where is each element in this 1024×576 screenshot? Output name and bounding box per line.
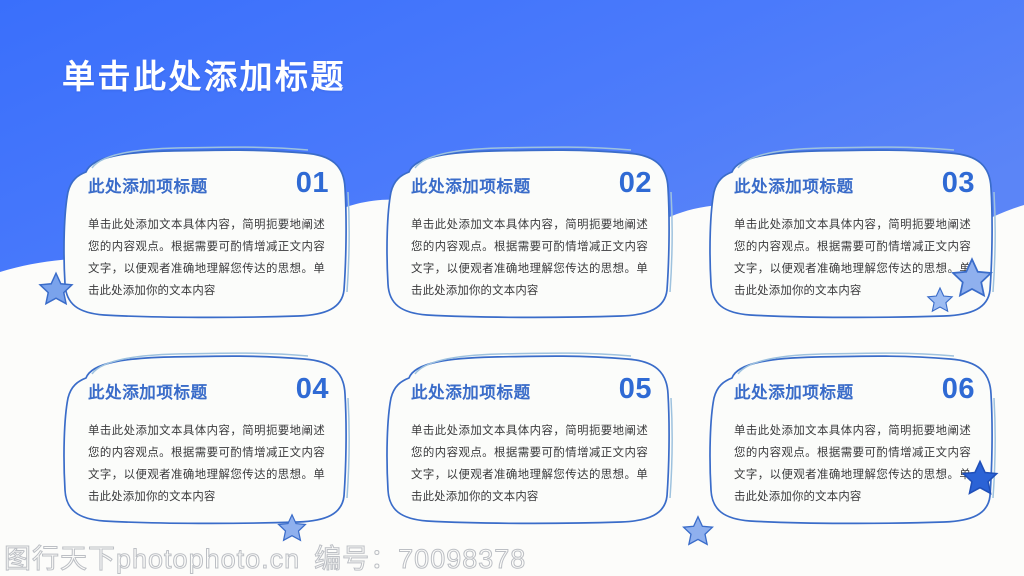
content-card-02[interactable]: 此处添加项标题 02 单击此处添加文本具体内容，简明扼要地阐述您的内容观点。根据… (381, 142, 674, 322)
card-title: 此处添加项标题 (88, 173, 208, 197)
card-body-text: 单击此处添加文本具体内容，简明扼要地阐述您的内容观点。根据需要可酌情增减正文内容… (88, 214, 325, 302)
card-header: 此处添加项标题 02 (411, 169, 652, 203)
card-header: 此处添加项标题 05 (411, 375, 652, 409)
content-card-03[interactable]: 此处添加项标题 03 单击此处添加文本具体内容，简明扼要地阐述您的内容观点。根据… (704, 142, 997, 322)
card-header: 此处添加项标题 06 (734, 375, 975, 409)
watermark-id-value: 70098378 (398, 544, 526, 574)
card-number: 02 (619, 169, 652, 198)
card-header: 此处添加项标题 04 (88, 375, 329, 409)
content-card-04[interactable]: 此处添加项标题 04 单击此处添加文本具体内容，简明扼要地阐述您的内容观点。根据… (58, 348, 351, 528)
card-header: 此处添加项标题 01 (88, 169, 329, 203)
card-body-text: 单击此处添加文本具体内容，简明扼要地阐述您的内容观点。根据需要可酌情增减正文内容… (411, 420, 648, 508)
card-title: 此处添加项标题 (734, 173, 854, 197)
page-title: 单击此处添加标题 (62, 57, 346, 97)
card-title: 此处添加项标题 (411, 173, 531, 197)
card-body-text: 单击此处添加文本具体内容，简明扼要地阐述您的内容观点。根据需要可酌情增减正文内容… (734, 420, 971, 508)
watermark-site: 图行天下photophoto.cn (4, 544, 300, 574)
content-card-05[interactable]: 此处添加项标题 05 单击此处添加文本具体内容，简明扼要地阐述您的内容观点。根据… (381, 348, 674, 528)
watermark-id-label: 编号： (314, 544, 398, 574)
card-number: 05 (619, 375, 652, 404)
card-title: 此处添加项标题 (411, 379, 531, 403)
card-body-text: 单击此处添加文本具体内容，简明扼要地阐述您的内容观点。根据需要可酌情增减正文内容… (88, 420, 325, 508)
content-card-06[interactable]: 此处添加项标题 06 单击此处添加文本具体内容，简明扼要地阐述您的内容观点。根据… (704, 348, 997, 528)
card-number: 01 (296, 169, 329, 198)
card-title: 此处添加项标题 (734, 379, 854, 403)
card-number: 03 (942, 169, 975, 198)
card-body-text: 单击此处添加文本具体内容，简明扼要地阐述您的内容观点。根据需要可酌情增减正文内容… (411, 214, 648, 302)
card-number: 06 (942, 375, 975, 404)
card-number: 04 (296, 375, 329, 404)
card-title: 此处添加项标题 (88, 379, 208, 403)
slide-canvas: 单击此处添加标题 此处添加项标题 01 单击此处添加文本具体内容，简明扼要地阐述… (0, 0, 1024, 576)
card-header: 此处添加项标题 03 (734, 169, 975, 203)
content-card-01[interactable]: 此处添加项标题 01 单击此处添加文本具体内容，简明扼要地阐述您的内容观点。根据… (58, 142, 351, 322)
watermark: 图行天下photophoto.cn编号：70098378 (4, 546, 526, 573)
card-body-text: 单击此处添加文本具体内容，简明扼要地阐述您的内容观点。根据需要可酌情增减正文内容… (734, 214, 971, 302)
